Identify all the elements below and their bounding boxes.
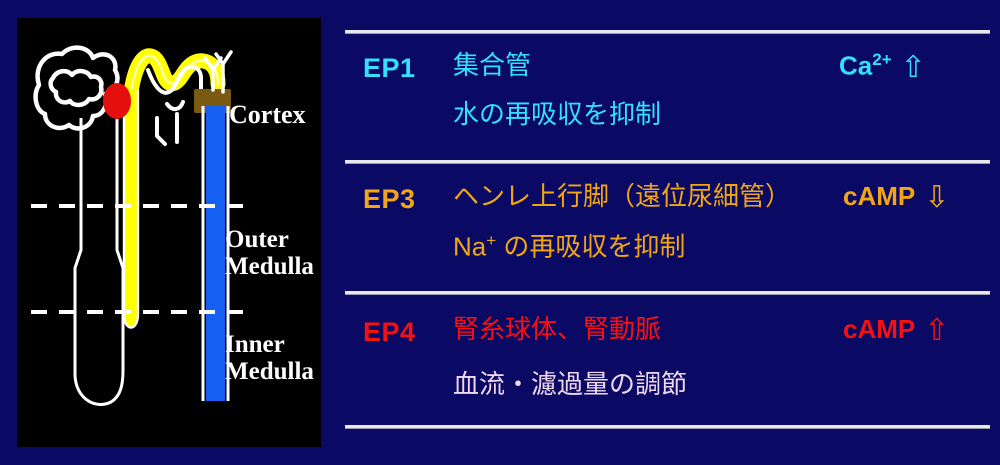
action-text-ep3: Na+ の再吸収を抑制 <box>453 232 685 260</box>
action-text-ep4: 血流・濾過量の調節 <box>453 371 687 397</box>
effect-ep1: Ca2+⇧ <box>839 50 926 83</box>
glomerulus-outline <box>36 48 118 129</box>
effect-ep3: cAMP⇩ <box>843 181 949 213</box>
site-text-ep4: 腎糸球体、腎動脈 <box>453 316 661 342</box>
effect-charge-ep1: 2+ <box>872 50 891 69</box>
zone-label-inner-medulla-line1: Inner <box>225 331 285 358</box>
slide-canvas: Cortex Outer Medulla Inner Medulla EP1 集… <box>0 0 1000 465</box>
divider-1 <box>345 160 990 163</box>
site-text-ep1: 集合管 <box>453 52 531 78</box>
divider-top <box>345 30 990 33</box>
action-charge-ep3: + <box>486 231 496 250</box>
effect-arrow-up-icon-ep4: ⇧ <box>924 316 949 346</box>
action-text-ep1: 水の再吸収を抑制 <box>453 101 661 127</box>
divider-bottom <box>345 425 990 428</box>
effect-molecule-ep4: cAMP <box>843 314 915 344</box>
macula-densa-marker <box>103 83 131 119</box>
effect-molecule-ep3: cAMP <box>843 181 915 211</box>
nephron-diagram-panel: Cortex Outer Medulla Inner Medulla <box>17 18 321 447</box>
effect-ep4: cAMP⇧ <box>843 314 949 346</box>
receptor-table-panel: EP1 集合管 水の再吸収を抑制 Ca2+⇧ EP3 ヘンレ上行脚（遠位尿細管）… <box>345 0 1000 465</box>
zone-label-outer-medulla-line1: Outer <box>225 226 289 253</box>
effect-arrow-down-icon-ep3: ⇩ <box>924 183 949 213</box>
effect-arrow-up-icon-ep1: ⇧ <box>901 53 926 83</box>
divider-2 <box>345 291 990 294</box>
effect-molecule-ep1: Ca <box>839 51 872 81</box>
loop-of-henle-thin-limb <box>75 118 123 404</box>
receptor-label-ep3: EP3 <box>363 184 416 215</box>
site-text-ep3: ヘンレ上行脚（遠位尿細管） <box>453 183 791 209</box>
zone-label-outer-medulla-line2: Medulla <box>225 253 314 280</box>
zone-label-inner-medulla-line2: Medulla <box>225 358 314 385</box>
nephron-diagram-svg: Cortex Outer Medulla Inner Medulla <box>17 18 321 447</box>
receptor-label-ep1: EP1 <box>363 53 416 84</box>
zone-label-cortex: Cortex <box>229 100 306 129</box>
action-molecule-ep3: Na <box>453 232 486 262</box>
action-rest-ep3: の再吸収を抑制 <box>496 232 685 262</box>
receptor-label-ep4: EP4 <box>363 317 416 348</box>
